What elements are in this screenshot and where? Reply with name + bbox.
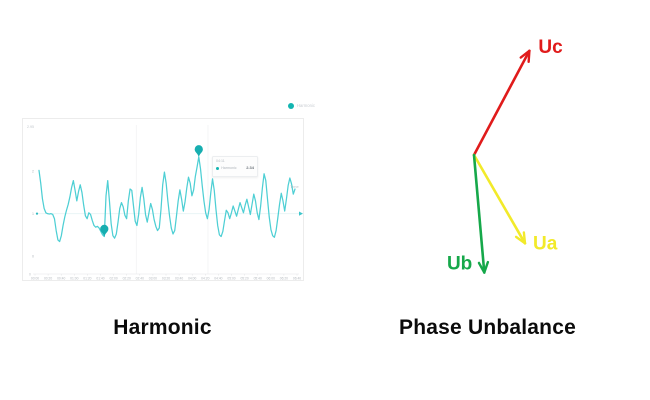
legend-color-swatch xyxy=(288,103,294,109)
x-axis-tick-label: 02:00 xyxy=(109,277,117,281)
y-axis-tick-label: 1 xyxy=(32,211,35,216)
legend-series-label: Harmonic xyxy=(297,104,315,108)
y-axis-max-label: 2.95 xyxy=(27,125,34,129)
x-axis-tick-label: 04:40 xyxy=(214,277,222,281)
tooltip-time: 04:11 xyxy=(216,160,254,164)
chart-pin-marker[interactable] xyxy=(195,145,203,157)
x-axis-tick-label: 04:20 xyxy=(201,277,209,281)
y-axis-tick-label: 0 xyxy=(32,253,35,258)
x-axis-tick-label: 05:20 xyxy=(240,277,248,281)
x-axis-tick-label: 02:40 xyxy=(136,277,144,281)
svg-text:0: 0 xyxy=(29,273,31,277)
phase-unbalance-panel: UcUaUb Phase Unbalance xyxy=(325,0,650,400)
x-axis-tick-label: 01:00 xyxy=(70,277,78,281)
phasor-label-uc: Uc xyxy=(538,37,563,58)
harmonic-panel: Harmonic 2.9501200:0000:2000:4001:0001:2… xyxy=(0,0,325,400)
x-axis-tick-label: 01:40 xyxy=(96,277,104,281)
x-axis-tick-label: 06:20 xyxy=(280,277,288,281)
phase-unbalance-caption: Phase Unbalance xyxy=(325,316,650,340)
x-axis-tick-label: 05:40 xyxy=(254,277,262,281)
harmonic-caption: Harmonic xyxy=(0,316,325,340)
chart-pin-marker[interactable] xyxy=(100,225,108,237)
x-axis-arrow-icon xyxy=(299,212,303,216)
x-axis-tick-label: 05:00 xyxy=(227,277,235,281)
tooltip-value: 2.34 xyxy=(246,166,254,170)
x-axis-tick-label: 03:20 xyxy=(162,277,170,281)
harmonic-line-chart[interactable]: 2.9501200:0000:2000:4001:0001:2001:4002:… xyxy=(23,119,305,282)
phasor-label-ua: Ua xyxy=(533,233,558,254)
phasor-vector-ub xyxy=(474,155,488,273)
tooltip-series-name: Harmonic xyxy=(221,167,244,171)
y-axis-tick-label: 2 xyxy=(32,169,35,174)
x-axis-tick-label: 03:40 xyxy=(175,277,183,281)
harmonic-chart-card[interactable]: 2.9501200:0000:2000:4001:0001:2001:4002:… xyxy=(22,118,304,281)
phasor-label-ub: Ub xyxy=(447,254,472,275)
x-axis-tick-label: 06:40 xyxy=(293,277,301,281)
x-axis-tick-label: 00:00 xyxy=(31,277,39,281)
x-axis-tick-label: 01:20 xyxy=(83,277,91,281)
chart-tooltip: 04:11 Harmonic 2.34 xyxy=(212,156,258,177)
tooltip-color-dot xyxy=(216,167,219,170)
x-axis-tick-label: 02:20 xyxy=(123,277,131,281)
phasor-diagram: UcUaUb xyxy=(325,0,650,316)
x-axis-tick-label: 03:00 xyxy=(149,277,157,281)
x-axis-tick-label: 00:20 xyxy=(44,277,52,281)
x-axis-tick-label: 04:00 xyxy=(188,277,196,281)
chart-legend[interactable]: Harmonic xyxy=(288,103,315,109)
x-axis-tick-label: 00:40 xyxy=(57,277,65,281)
tooltip-series-row: Harmonic 2.34 xyxy=(216,166,254,170)
phasor-vector-uc xyxy=(474,51,529,155)
x-axis-unit-label: Time xyxy=(290,184,299,189)
x-axis-tick-label: 06:00 xyxy=(267,277,275,281)
